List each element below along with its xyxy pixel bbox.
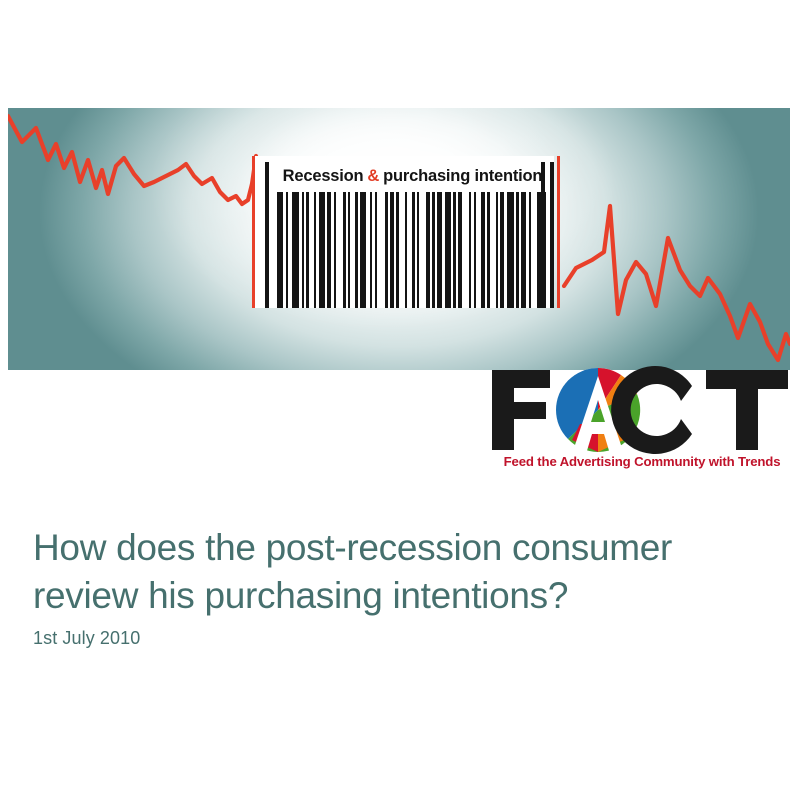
barcode-space: [553, 192, 556, 308]
barcode-graphic: Recession & purchasing intention: [247, 156, 562, 308]
page-title-line-1: How does the post-recession consumer: [33, 524, 763, 572]
page-title: How does the post-recession consumer rev…: [33, 524, 763, 620]
barcode-red-edge-right: [557, 156, 560, 308]
logo-letter-t: [706, 370, 788, 450]
fact-logo-mark: [490, 366, 792, 454]
fact-logo: Feed the Advertising Community with Tren…: [490, 366, 792, 478]
barcode-space: [336, 192, 343, 308]
barcode-plate: Recession & purchasing intention: [255, 156, 554, 308]
title-slide: Recession & purchasing intention: [0, 0, 800, 800]
barcode-label-ampersand: &: [367, 167, 379, 186]
recession-banner: Recession & purchasing intention: [8, 108, 790, 370]
trend-line-left: [8, 116, 252, 204]
barcode-bar: [507, 192, 514, 308]
trend-line-right: [564, 206, 790, 360]
page-title-line-2: review his purchasing intentions?: [33, 572, 763, 620]
logo-letter-f: [492, 370, 550, 450]
fact-logo-tagline: Feed the Advertising Community with Tren…: [492, 454, 792, 469]
barcode-space: [419, 192, 426, 308]
barcode-label-suffix: purchasing intention: [383, 167, 542, 186]
presentation-date: 1st July 2010: [33, 628, 140, 649]
barcode-guard-bar-left: [265, 162, 269, 308]
barcode-bars: [277, 192, 537, 308]
barcode-bar: [292, 192, 299, 308]
barcode-space: [377, 192, 385, 308]
barcode-label-prefix: Recession: [283, 167, 364, 186]
barcode-label: Recession & purchasing intention: [269, 162, 556, 190]
barcode-space: [462, 192, 469, 308]
